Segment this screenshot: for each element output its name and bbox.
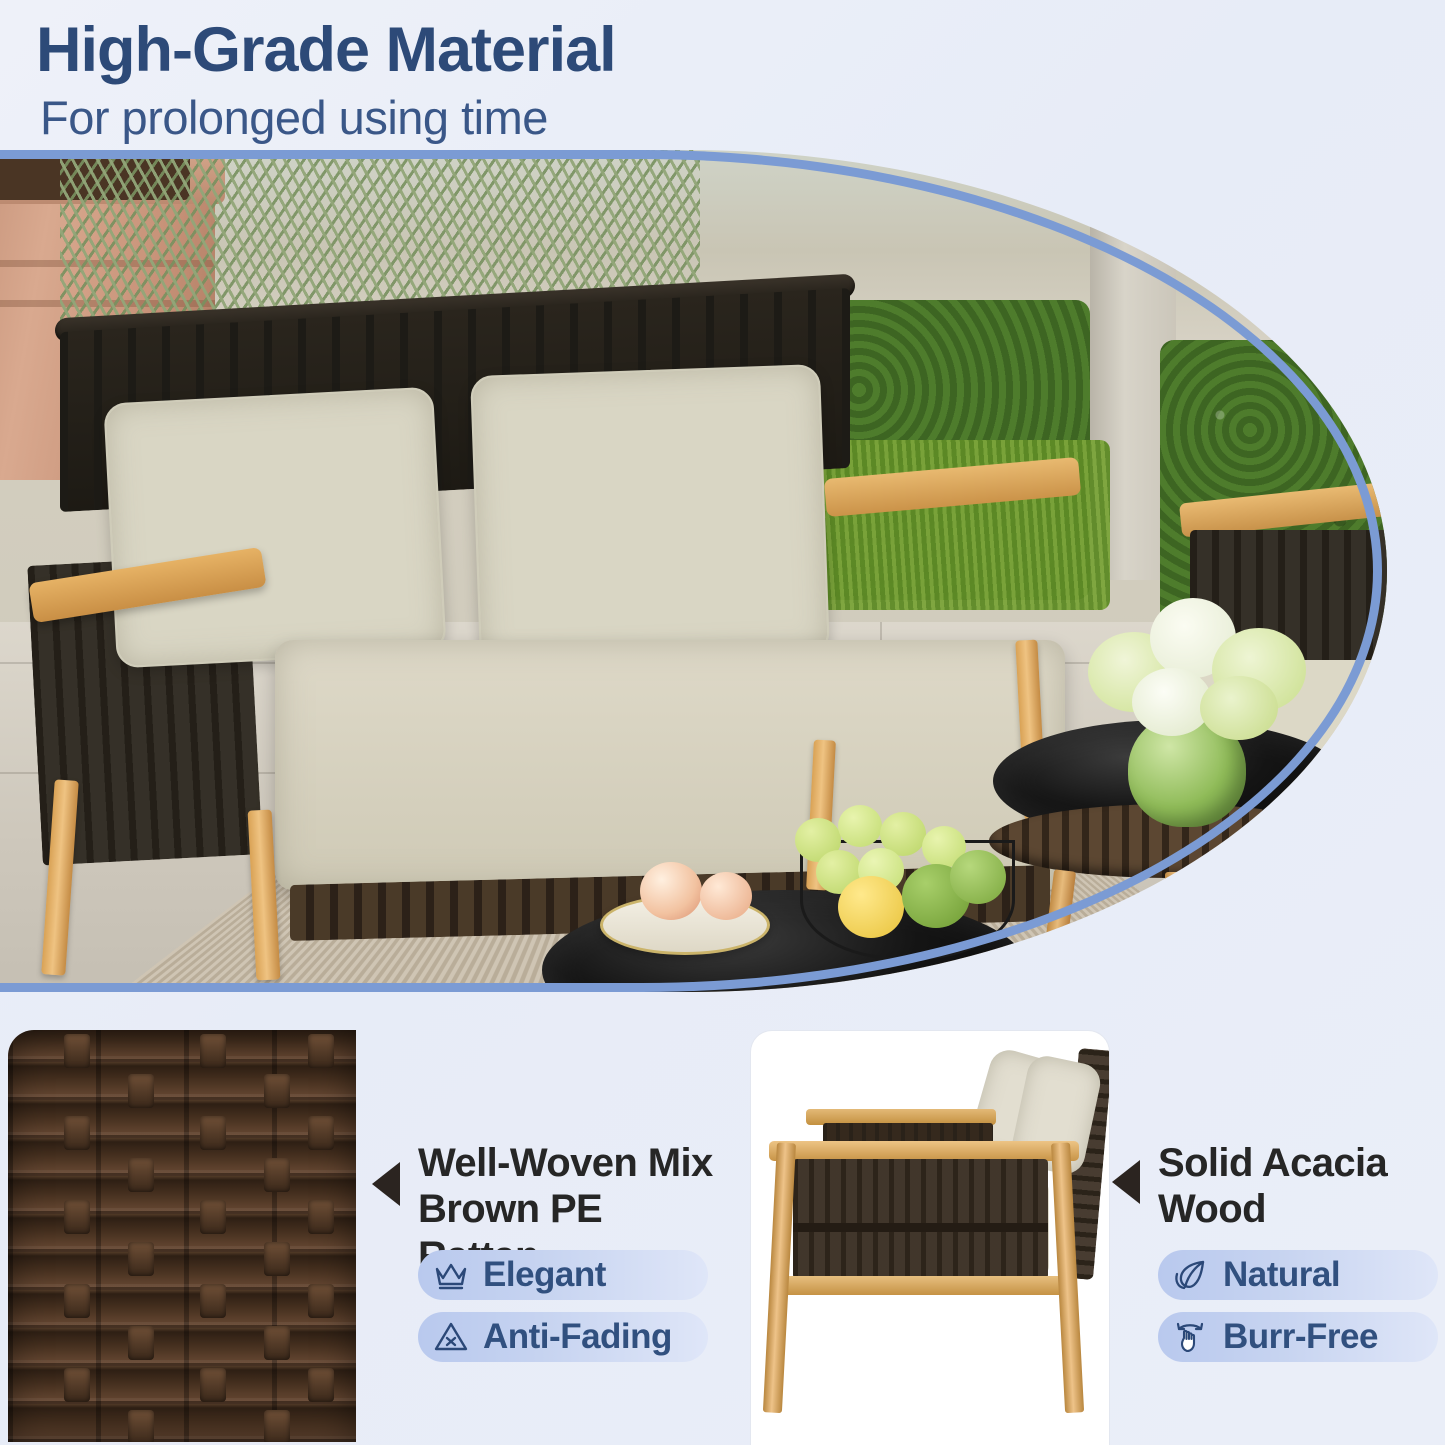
badge-natural[interactable]: Natural [1158,1250,1438,1300]
crown-icon [432,1256,470,1294]
lime [950,850,1006,904]
acacia-chair-side-view-photo [750,1030,1110,1445]
table-leg [1165,872,1187,992]
back-cushion [103,387,446,669]
header-banner: High-Grade Material For prolonged using … [0,0,1445,150]
feature-title-line1: Solid Acacia [1158,1141,1387,1185]
chair-side-rattan-panel [793,1159,1048,1279]
brand-badge [1275,830,1321,852]
lemon [838,876,904,938]
badge-label: Elegant [483,1255,606,1295]
hydrangea-bouquet [1078,590,1318,740]
pointer-arrow-icon [372,1162,400,1206]
badge-label: Burr-Free [1223,1317,1378,1357]
badge-anti-fading[interactable]: Anti-Fading [418,1312,708,1362]
badge-label: Natural [1223,1255,1340,1295]
badge-elegant[interactable]: Elegant [418,1250,708,1300]
hero-lifestyle-image [0,150,1387,992]
peach-half [640,862,702,920]
anti-fading-icon [432,1318,470,1356]
feature-title-line2: Wood [1158,1187,1266,1231]
page-subtitle: For prolonged using time [40,90,548,145]
table-leg [1266,867,1306,992]
badge-burr-free[interactable]: Burr-Free [1158,1312,1438,1362]
hand-touch-icon [1172,1318,1210,1356]
patio-scene [0,150,1387,992]
page-title: High-Grade Material [36,14,616,86]
features-section: Well-Woven Mix Brown PE Rattan Elegant A… [0,1000,1445,1445]
feature-title-acacia: Solid Acacia Wood [1158,1140,1387,1233]
feature-title-line1: Well-Woven Mix [418,1141,713,1185]
pe-rattan-weave-texture-swatch [8,1030,356,1442]
badge-label: Anti-Fading [483,1317,672,1357]
pointer-arrow-icon [1112,1160,1140,1204]
back-cushion [470,364,830,666]
chair-mid-rail [793,1223,1048,1232]
leaf-icon [1172,1256,1210,1294]
chair-lower-rail [781,1276,1071,1295]
chair-arm-rail [769,1141,1079,1161]
peach-half [700,872,752,920]
grape [838,805,882,847]
